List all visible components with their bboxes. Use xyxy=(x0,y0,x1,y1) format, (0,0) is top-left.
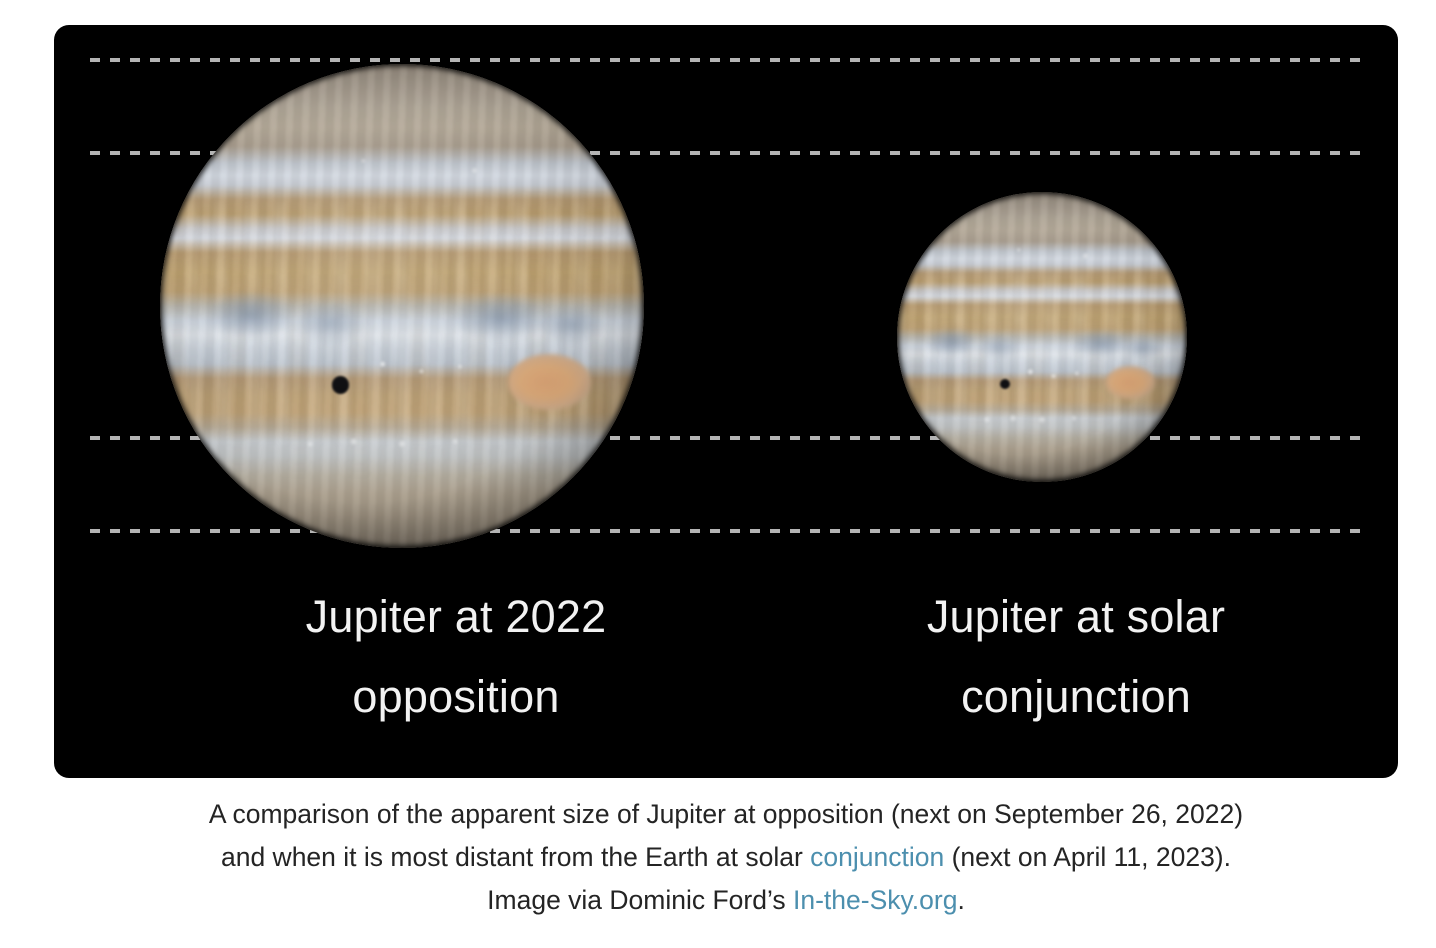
jupiter-disc-opposition xyxy=(160,64,644,548)
jupiter-disc-conjunction xyxy=(897,192,1187,482)
conjunction-link[interactable]: conjunction xyxy=(810,842,944,872)
caption-line-3-text-before: Image via Dominic Ford’s xyxy=(487,885,793,915)
in-the-sky-org-link[interactable]: In-the-Sky.org xyxy=(793,885,957,915)
panel-label-opposition: Jupiter at 2022 opposition xyxy=(144,577,768,737)
panel-label-conjunction: Jupiter at solar conjunction xyxy=(784,577,1368,737)
figure-caption: A comparison of the apparent size of Jup… xyxy=(54,793,1398,922)
jupiter-disc-edge xyxy=(897,192,1187,482)
caption-line-2-text-before: and when it is most distant from the Ear… xyxy=(221,842,810,872)
figure-page: Jupiter at 2022 opposition Jupiter at so… xyxy=(0,0,1436,948)
caption-line-3-text-after: . xyxy=(957,885,964,915)
caption-line-1: A comparison of the apparent size of Jup… xyxy=(209,799,1243,829)
jupiter-disc-edge xyxy=(160,64,644,548)
caption-line-2-text-after: (next on April 11, 2023). xyxy=(944,842,1231,872)
guide-line-top-outer xyxy=(90,58,1362,62)
jupiter-comparison-figure: Jupiter at 2022 opposition Jupiter at so… xyxy=(54,25,1398,778)
